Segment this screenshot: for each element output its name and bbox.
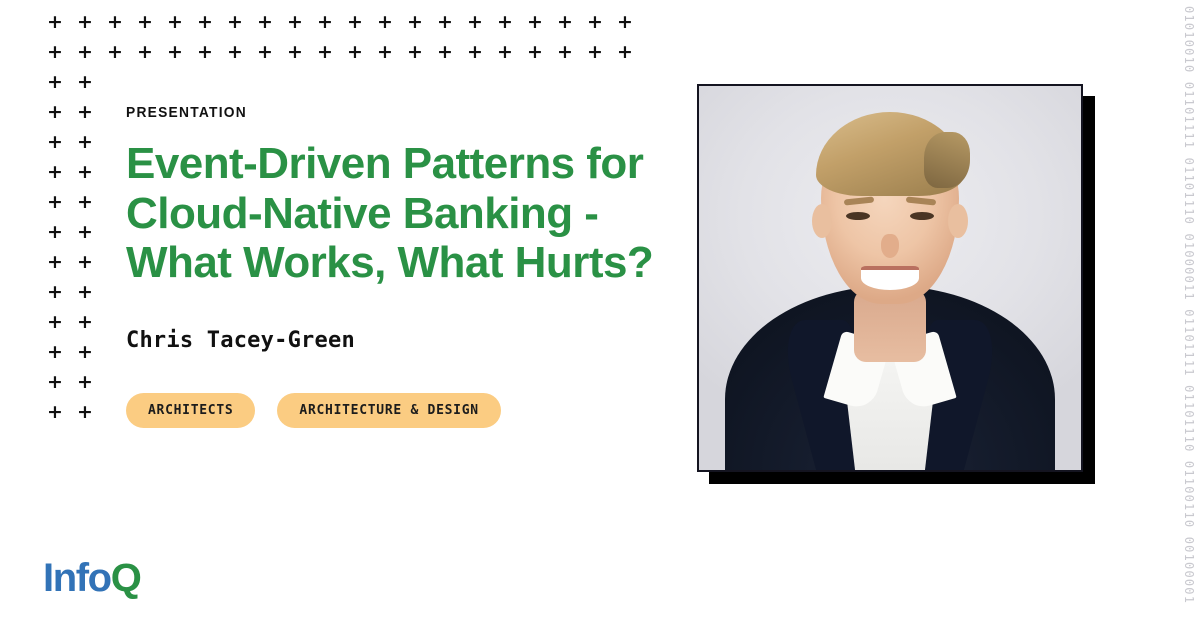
plus-icon: + <box>100 40 130 64</box>
plus-icon: + <box>460 10 490 34</box>
plus-icon: + <box>40 340 70 364</box>
plus-row: ++ <box>40 220 100 244</box>
plus-icon: + <box>580 10 610 34</box>
binary-string: 01010010 01101111 01101110 01000011 0110… <box>1182 6 1196 604</box>
plus-icon: + <box>400 10 430 34</box>
plus-icon: + <box>40 370 70 394</box>
plus-row: ++ <box>40 250 100 274</box>
plus-icon: + <box>70 70 100 94</box>
photo-frame <box>697 84 1083 472</box>
plus-row: ++ <box>40 400 100 424</box>
plus-row: ++ <box>40 100 100 124</box>
plus-icon: + <box>70 340 100 364</box>
tag-list: ARCHITECTS ARCHITECTURE & DESIGN <box>126 393 686 428</box>
plus-icon: + <box>520 40 550 64</box>
plus-row: ++ <box>40 340 100 364</box>
plus-icon: + <box>520 10 550 34</box>
plus-row: ++ <box>40 280 100 304</box>
plus-icon: + <box>310 40 340 64</box>
binary-decoration-rail: 01010010 01101111 01101110 01000011 0110… <box>1176 0 1200 630</box>
plus-icon: + <box>70 370 100 394</box>
plus-icon: + <box>190 40 220 64</box>
plus-icon: + <box>400 40 430 64</box>
plus-icon: + <box>370 40 400 64</box>
plus-icon: + <box>70 190 100 214</box>
plus-icon: + <box>100 10 130 34</box>
plus-row: ++ <box>40 70 100 94</box>
plus-icon: + <box>550 10 580 34</box>
plus-icon: + <box>220 10 250 34</box>
plus-icon: + <box>340 10 370 34</box>
plus-icon: + <box>250 40 280 64</box>
presentation-promo-card: ++++++++++++++++++++++++++++++++++++++++… <box>0 0 1200 630</box>
plus-icon: + <box>160 40 190 64</box>
content-type-label: PRESENTATION <box>126 104 641 121</box>
plus-icon: + <box>490 40 520 64</box>
plus-icon: + <box>40 70 70 94</box>
plus-icon: + <box>160 10 190 34</box>
plus-icon: + <box>460 40 490 64</box>
plus-icon: + <box>70 250 100 274</box>
plus-icon: + <box>310 10 340 34</box>
logo-text-info: Info <box>43 556 111 600</box>
plus-icon: + <box>70 220 100 244</box>
plus-icon: + <box>130 10 160 34</box>
plus-icon: + <box>70 310 100 334</box>
speaker-photo-container <box>697 84 1083 472</box>
plus-icon: + <box>70 100 100 124</box>
plus-icon: + <box>70 130 100 154</box>
plus-icon: + <box>40 250 70 274</box>
plus-row: ++++++++++++++++++++ <box>40 10 640 34</box>
plus-icon: + <box>70 40 100 64</box>
plus-icon: + <box>70 400 100 424</box>
plus-icon: + <box>370 10 400 34</box>
plus-icon: + <box>40 10 70 34</box>
plus-row: ++ <box>40 370 100 394</box>
plus-icon: + <box>40 310 70 334</box>
page-title: Event-Driven Patterns for Cloud-Native B… <box>126 139 671 288</box>
plus-icon: + <box>130 40 160 64</box>
plus-row: ++++++++++++++++++++ <box>40 40 640 64</box>
logo-text-q: Q <box>111 556 141 600</box>
speaker-headshot-image <box>699 86 1081 470</box>
plus-icon: + <box>430 10 460 34</box>
plus-icon: + <box>40 100 70 124</box>
plus-icon: + <box>610 40 640 64</box>
plus-icon: + <box>40 40 70 64</box>
plus-row: ++ <box>40 310 100 334</box>
plus-icon: + <box>580 40 610 64</box>
plus-icon: + <box>220 40 250 64</box>
plus-row: ++ <box>40 130 100 154</box>
plus-icon: + <box>40 400 70 424</box>
plus-icon: + <box>610 10 640 34</box>
plus-icon: + <box>190 10 220 34</box>
plus-icon: + <box>70 160 100 184</box>
plus-icon: + <box>40 190 70 214</box>
plus-icon: + <box>430 40 460 64</box>
plus-row: ++ <box>40 160 100 184</box>
plus-icon: + <box>280 10 310 34</box>
speaker-name: Chris Tacey-Green <box>126 328 686 353</box>
tag-architects[interactable]: ARCHITECTS <box>126 393 255 428</box>
plus-icon: + <box>40 220 70 244</box>
content-column: PRESENTATION Event-Driven Patterns for C… <box>126 104 686 428</box>
plus-icon: + <box>40 280 70 304</box>
plus-icon: + <box>340 40 370 64</box>
plus-row: ++ <box>40 190 100 214</box>
plus-icon: + <box>70 10 100 34</box>
plus-icon: + <box>250 10 280 34</box>
plus-icon: + <box>490 10 520 34</box>
plus-icon: + <box>40 130 70 154</box>
plus-icon: + <box>550 40 580 64</box>
plus-icon: + <box>280 40 310 64</box>
tag-architecture-and-design[interactable]: ARCHITECTURE & DESIGN <box>277 393 500 428</box>
plus-icon: + <box>70 280 100 304</box>
infoq-logo[interactable]: InfoQ <box>43 558 140 598</box>
plus-icon: + <box>40 160 70 184</box>
